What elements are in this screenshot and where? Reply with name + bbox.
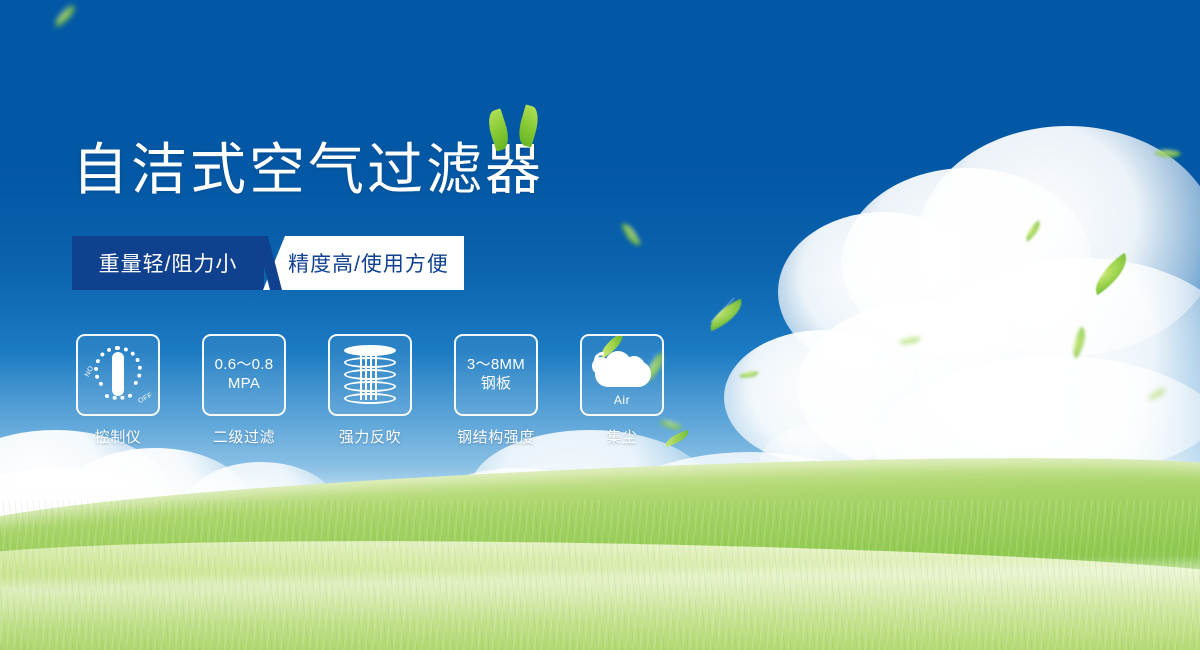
coil-ring: [344, 393, 396, 404]
feature-icon-box: 3～8MM 钢板: [454, 334, 538, 416]
feature-item-controller[interactable]: NO OFF 控制仪: [76, 334, 160, 447]
floating-leaf-icon: [1086, 253, 1135, 295]
cloud-shape: [918, 126, 1200, 356]
air-label: Air: [589, 393, 655, 407]
cloud-shape: [778, 212, 988, 372]
feature-item-steel[interactable]: 3～8MM 钢板 钢结构强度: [454, 334, 538, 447]
feature-item-backblow[interactable]: 强力反吹: [328, 334, 412, 447]
feature-icon-box: [328, 334, 412, 416]
cloud-shape: [842, 168, 1092, 358]
coil-ring: [344, 381, 396, 392]
cloud-shape: [724, 330, 924, 465]
headline-block: 自洁式空气过滤器: [72, 140, 544, 200]
gauge-needle: [112, 352, 124, 396]
air-cloud-icon: Air: [589, 345, 655, 405]
floating-leaf-icon: [1066, 326, 1093, 358]
page-title: 自洁式空气过滤器: [72, 140, 544, 200]
subtitle-bar: 重量轻/阻力小 精度高/使用方便: [72, 236, 464, 290]
feature-label: 钢结构强度: [454, 426, 538, 447]
feature-item-dust[interactable]: Air 集尘: [580, 334, 664, 447]
gauge-label-off: OFF: [137, 392, 154, 405]
feature-item-pressure[interactable]: 0.6～0.8 MPA 二级过滤: [202, 334, 286, 447]
floating-leaf-icon: [1155, 144, 1181, 163]
floating-leaf-icon: [704, 299, 748, 332]
feature-label: 二级过滤: [202, 426, 286, 447]
pressure-text: 0.6～0.8 MPA: [215, 356, 274, 394]
floating-leaf-icon: [1021, 220, 1044, 241]
floating-leaf-icon: [51, 5, 80, 28]
steel-plate-text: 3～8MM 钢板: [467, 356, 525, 394]
feature-label: 强力反吹: [328, 426, 412, 447]
feature-icon-box: Air: [580, 334, 664, 416]
floating-leaf-icon: [739, 368, 758, 381]
gauge-icon: NO OFF: [85, 344, 151, 406]
floating-leaf-icon: [621, 220, 641, 249]
subtitle-left-text: 重量轻/阻力小: [99, 248, 238, 278]
floating-leaf-icon: [1147, 388, 1166, 400]
sprout-leaves-icon: [480, 104, 550, 150]
feature-icon-box: NO OFF: [76, 334, 160, 416]
feature-icon-box: 0.6～0.8 MPA: [202, 334, 286, 416]
coil-ring: [344, 369, 396, 380]
subtitle-right-panel: 精度高/使用方便: [263, 236, 464, 290]
subtitle-right-text: 精度高/使用方便: [278, 248, 449, 278]
coil-ring: [344, 357, 396, 368]
feature-list: NO OFF 控制仪 0.6～0.8 MPA 二级过滤: [76, 334, 664, 447]
feature-label: 集尘: [580, 426, 664, 447]
cloud-shape: [798, 300, 1058, 475]
banner-root: 自洁式空气过滤器 重量轻/阻力小 精度高/使用方便 NO OFF 控制仪: [0, 0, 1200, 650]
feature-label: 控制仪: [76, 426, 160, 447]
sprout-leaf-right-icon: [515, 104, 542, 147]
decorative-leaf-icon: [663, 430, 691, 447]
sprout-leaf-left-icon: [484, 108, 513, 151]
cloud-puff: [623, 356, 645, 378]
filter-coil-icon: [344, 344, 396, 406]
subtitle-left-panel: 重量轻/阻力小: [72, 236, 264, 290]
cloud-shape: [918, 258, 1200, 473]
floating-leaf-icon: [899, 335, 920, 347]
